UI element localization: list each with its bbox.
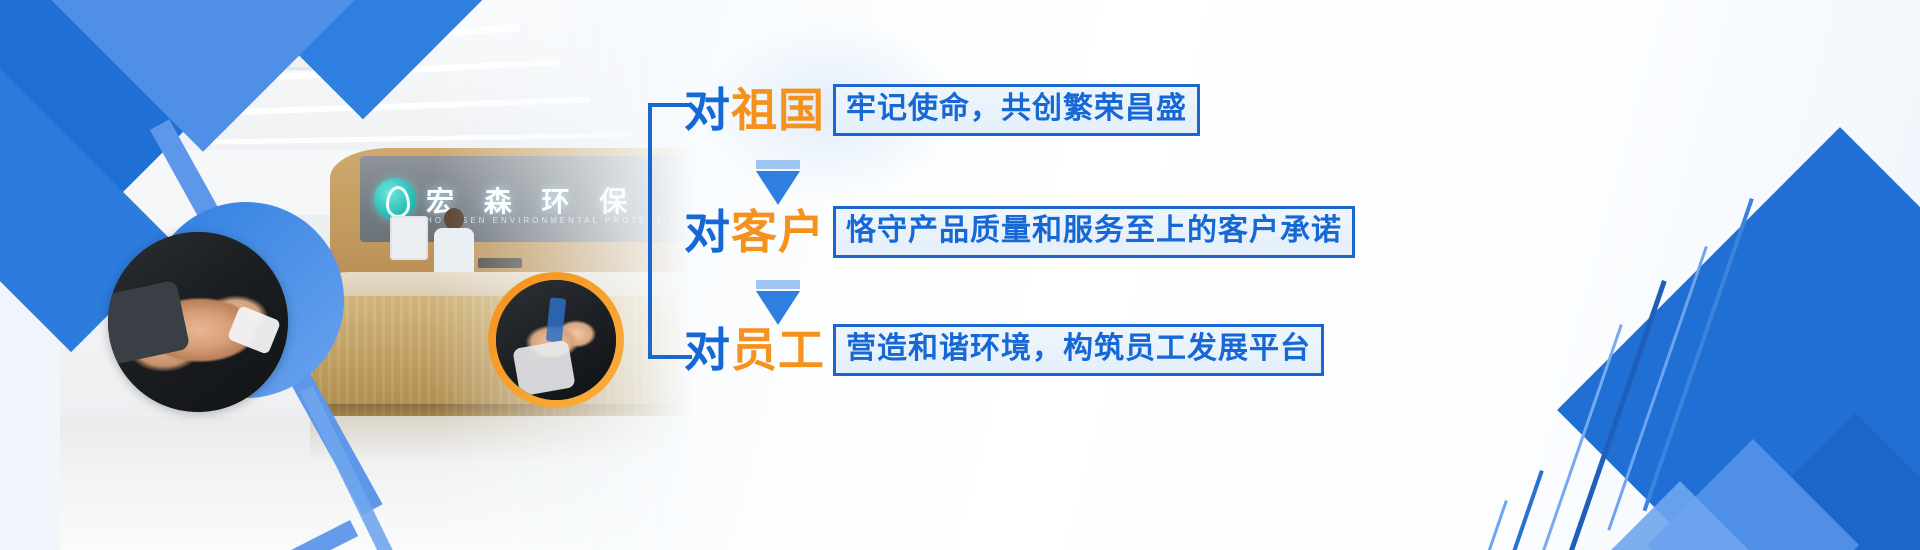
value-row-employee: 对员工 营造和谐环境，构筑员工发展平台 (684, 324, 1324, 376)
handshake-image (108, 232, 288, 412)
value-statement-employee: 营造和谐环境，构筑员工发展平台 (833, 324, 1324, 376)
value-label-employee: 对员工 (684, 324, 825, 376)
value-prefix: 对 (684, 205, 731, 259)
value-statement-customer: 恪守产品质量和服务至上的客户承诺 (833, 206, 1355, 258)
shirt-cuff (227, 305, 281, 355)
handshake-photo (108, 232, 288, 412)
values-content: 对祖国 牢记使命，共创繁荣昌盛 对客户 恪守产品质量和服务至上的客户承诺 对员工… (648, 0, 1408, 550)
value-subject: 员工 (731, 323, 825, 377)
diagonal-line-6 (1466, 500, 1508, 550)
arrow-cap (756, 160, 800, 169)
company-values-banner: 宏 森 环 保 HONGSEN ENVIRONMENTAL PROTECTION (0, 0, 1920, 550)
value-label-nation: 对祖国 (684, 84, 825, 136)
value-label-customer: 对客户 (684, 206, 825, 258)
down-arrow-icon-2 (756, 280, 800, 325)
arrow-triangle (756, 171, 800, 205)
keyboard (478, 258, 522, 268)
necktie (546, 297, 567, 342)
value-subject: 祖国 (731, 83, 825, 137)
arrow-cap (756, 280, 800, 289)
dress-shirt (512, 340, 575, 397)
receptionist-head (444, 208, 464, 230)
applause-image (496, 280, 616, 400)
arrow-triangle (756, 291, 800, 325)
value-row-customer: 对客户 恪守产品质量和服务至上的客户承诺 (684, 206, 1355, 258)
applause-photo (496, 280, 616, 400)
company-logo-icon (374, 178, 416, 220)
reception-monitor (390, 216, 428, 260)
down-arrow-icon-1 (756, 160, 800, 205)
value-prefix: 对 (684, 323, 731, 377)
value-prefix: 对 (684, 83, 731, 137)
receptionist (432, 208, 476, 278)
receptionist-body (434, 228, 474, 278)
suit-sleeve (108, 280, 190, 366)
value-subject: 客户 (731, 205, 825, 259)
value-statement-nation: 牢记使命，共创繁荣昌盛 (833, 84, 1200, 136)
value-row-nation: 对祖国 牢记使命，共创繁荣昌盛 (684, 84, 1200, 136)
diagonal-line-5 (1491, 470, 1544, 550)
